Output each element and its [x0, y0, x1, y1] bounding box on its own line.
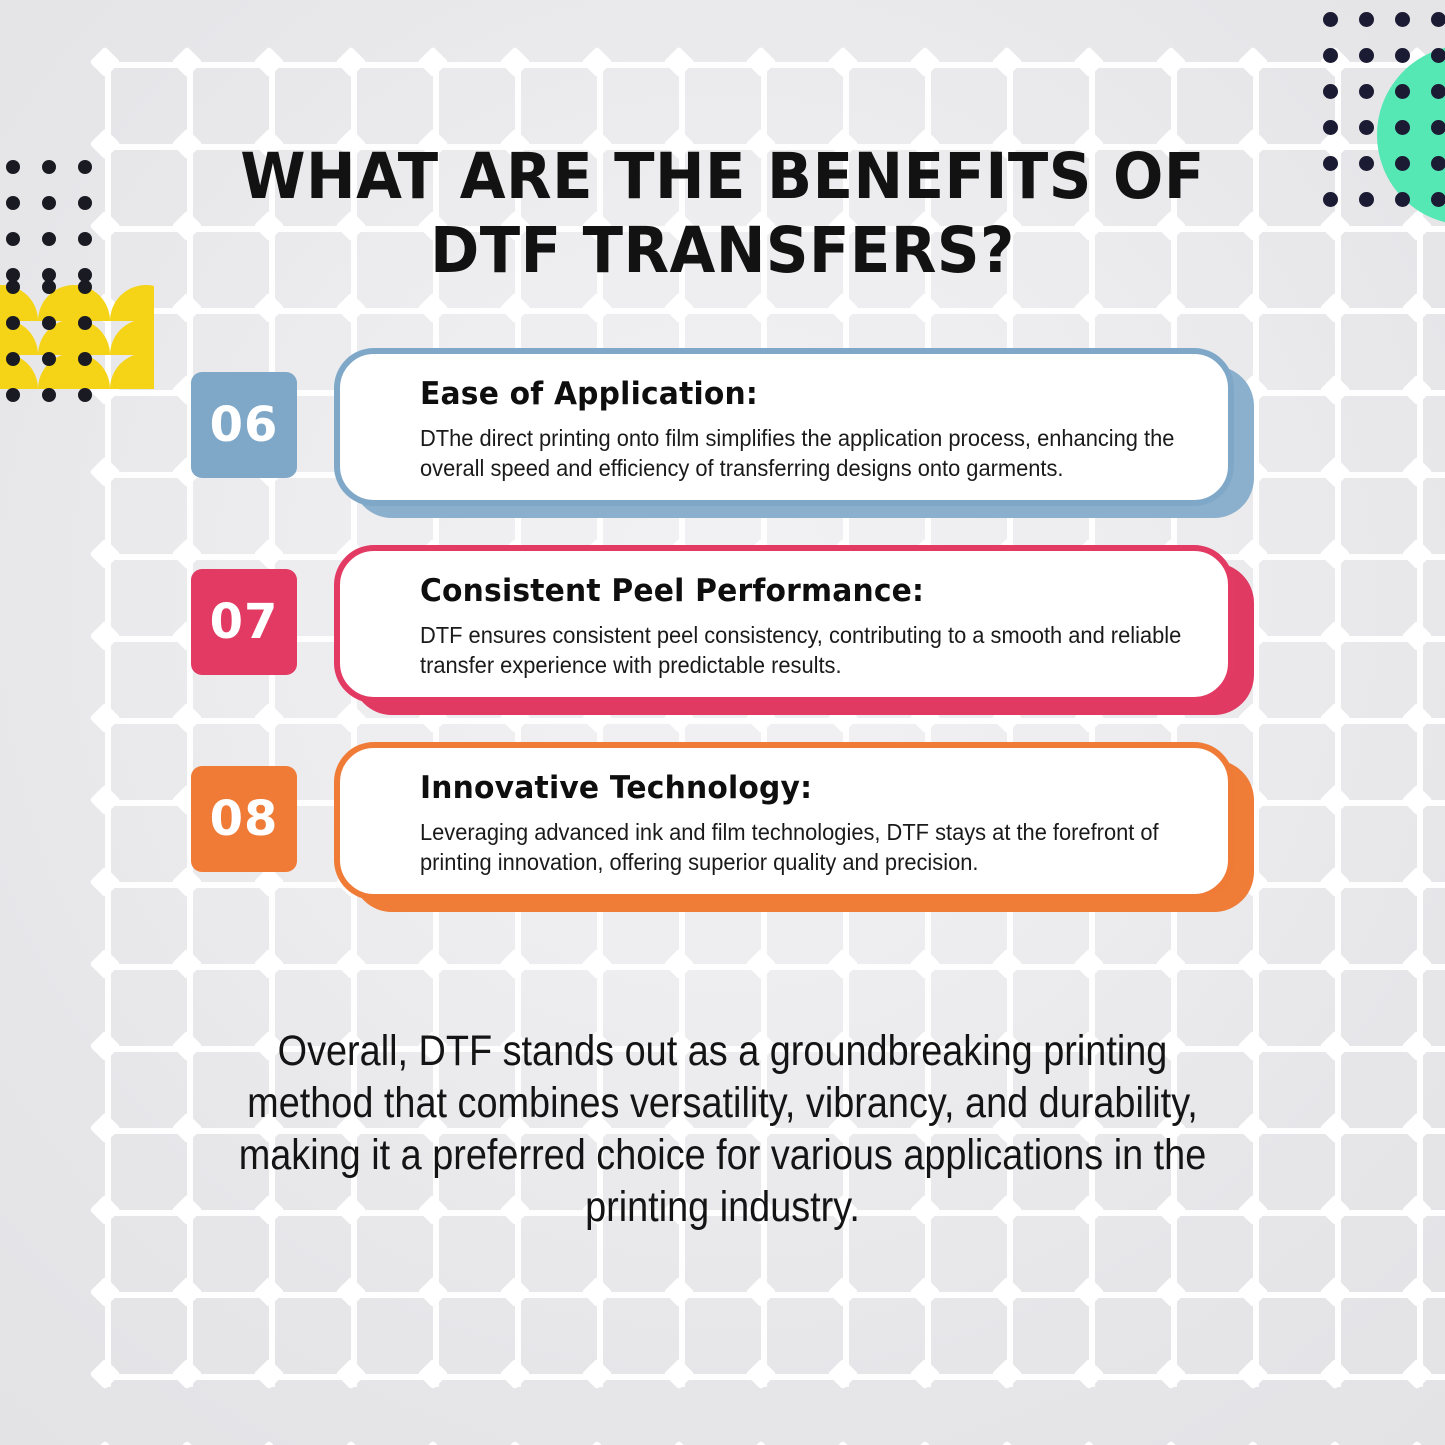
decorative-dot-icon	[1431, 12, 1445, 27]
grid-diamond-icon	[1319, 1112, 1350, 1143]
grid-diamond-icon	[1401, 1440, 1432, 1445]
grid-diamond-icon	[335, 1276, 366, 1307]
grid-diamond-icon	[171, 702, 202, 733]
grid-diamond-icon	[1401, 538, 1432, 569]
semicircle-icon	[0, 353, 38, 389]
grid-diamond-icon	[581, 1358, 612, 1389]
grid-diamond-icon	[89, 702, 120, 733]
grid-diamond-icon	[1237, 1276, 1268, 1307]
grid-diamond-icon	[909, 948, 940, 979]
grid-diamond-icon	[1237, 1194, 1268, 1225]
grid-diamond-icon	[253, 1358, 284, 1389]
grid-diamond-icon	[1401, 374, 1432, 405]
decorative-dot-icon	[1359, 48, 1374, 63]
grid-diamond-icon	[171, 948, 202, 979]
semicircle-icon	[0, 285, 38, 321]
grid-diamond-icon	[335, 948, 366, 979]
grid-diamond-icon	[417, 1276, 448, 1307]
grid-diamond-icon	[417, 948, 448, 979]
grid-diamond-icon	[89, 456, 120, 487]
grid-diamond-icon	[991, 1276, 1022, 1307]
grid-diamond-icon	[171, 1030, 202, 1061]
grid-diamond-icon	[745, 1358, 776, 1389]
decorative-dot-icon	[42, 268, 56, 282]
grid-diamond-icon	[663, 46, 694, 77]
grid-diamond-icon	[1319, 46, 1350, 77]
grid-diamond-icon	[745, 948, 776, 979]
grid-diamond-icon	[1155, 1358, 1186, 1389]
decorative-dot-icon	[1395, 12, 1410, 27]
grid-diamond-icon	[1319, 1440, 1350, 1445]
grid-diamond-icon	[827, 1358, 858, 1389]
grid-diamond-icon	[1319, 292, 1350, 323]
grid-diamond-icon	[1401, 1276, 1432, 1307]
decorative-dot-icon	[1323, 48, 1338, 63]
grid-diamond-icon	[171, 1194, 202, 1225]
grid-diamond-icon	[499, 948, 530, 979]
grid-diamond-icon	[1401, 948, 1432, 979]
semicircle-icon	[110, 285, 154, 321]
grid-diamond-icon	[253, 1276, 284, 1307]
grid-diamond-icon	[89, 538, 120, 569]
grid-diamond-icon	[745, 1440, 776, 1445]
grid-diamond-icon	[1237, 702, 1268, 733]
grid-diamond-icon	[663, 1276, 694, 1307]
grid-diamond-icon	[417, 46, 448, 77]
decorative-dot-icon	[1323, 84, 1338, 99]
decorative-dot-icon	[42, 388, 56, 402]
decorative-dot-icon	[78, 268, 92, 282]
benefit-body: Leveraging advanced ink and film technol…	[420, 817, 1234, 877]
grid-diamond-icon	[1155, 1276, 1186, 1307]
grid-diamond-icon	[1237, 128, 1268, 159]
grid-diamond-icon	[499, 1358, 530, 1389]
grid-diamond-icon	[909, 1358, 940, 1389]
grid-diamond-icon	[1237, 1440, 1268, 1445]
grid-diamond-icon	[89, 866, 120, 897]
decorative-dot-icon	[1359, 192, 1374, 207]
grid-diamond-icon	[1073, 948, 1104, 979]
grid-diamond-icon	[335, 702, 366, 733]
grid-diamond-icon	[663, 948, 694, 979]
grid-diamond-icon	[89, 620, 120, 651]
decorative-dot-icon	[1323, 192, 1338, 207]
decorative-dot-icon	[6, 232, 20, 246]
grid-diamond-icon	[253, 292, 284, 323]
grid-diamond-icon	[827, 1440, 858, 1445]
decorative-dot-icon	[1323, 156, 1338, 171]
grid-diamond-icon	[909, 1276, 940, 1307]
decorative-dot-icon	[42, 196, 56, 210]
grid-diamond-icon	[1319, 1276, 1350, 1307]
grid-diamond-icon	[253, 1440, 284, 1445]
grid-diamond-icon	[1401, 620, 1432, 651]
grid-diamond-icon	[991, 948, 1022, 979]
grid-diamond-icon	[1319, 702, 1350, 733]
grid-diamond-icon	[1319, 128, 1350, 159]
grid-diamond-icon	[1319, 374, 1350, 405]
grid-diamond-icon	[335, 1440, 366, 1445]
benefit-card[interactable]: Innovative Technology: Leveraging advanc…	[334, 742, 1234, 900]
teal-circle-icon	[1377, 45, 1445, 225]
grid-diamond-icon	[1319, 210, 1350, 241]
grid-diamond-icon	[827, 948, 858, 979]
grid-diamond-icon	[663, 1358, 694, 1389]
grid-diamond-icon	[89, 210, 120, 241]
infographic-canvas: WHAT ARE THE BENEFITS OF DTF TRANSFERS? …	[0, 0, 1445, 1445]
semicircle-icon	[38, 285, 110, 321]
grid-diamond-icon	[89, 948, 120, 979]
grid-diamond-icon	[1401, 1112, 1432, 1143]
grid-diamond-icon	[499, 46, 530, 77]
grid-diamond-icon	[171, 1276, 202, 1307]
grid-diamond-icon	[827, 292, 858, 323]
grid-diamond-icon	[499, 1440, 530, 1445]
benefit-heading: Innovative Technology:	[420, 770, 1198, 806]
benefit-heading: Consistent Peel Performance:	[420, 573, 1198, 609]
grid-diamond-icon	[1073, 46, 1104, 77]
grid-diamond-icon	[171, 1440, 202, 1445]
semicircle-cluster-icon	[0, 285, 154, 390]
grid-diamond-icon	[1319, 538, 1350, 569]
grid-diamond-icon	[909, 292, 940, 323]
decorative-dot-icon	[6, 388, 20, 402]
decorative-dot-icon	[78, 232, 92, 246]
grid-diamond-icon	[1237, 1030, 1268, 1061]
grid-diamond-icon	[253, 538, 284, 569]
grid-diamond-icon	[663, 292, 694, 323]
grid-diamond-icon	[253, 46, 284, 77]
grid-diamond-icon	[417, 1440, 448, 1445]
grid-diamond-icon	[417, 292, 448, 323]
grid-diamond-icon	[171, 1358, 202, 1389]
benefit-number-badge: 07	[191, 569, 297, 675]
grid-diamond-icon	[1401, 866, 1432, 897]
decorative-dot-icon	[1323, 120, 1338, 135]
benefit-number-badge: 06	[191, 372, 297, 478]
grid-diamond-icon	[1155, 948, 1186, 979]
decorative-dot-icon	[78, 160, 92, 174]
grid-diamond-icon	[1073, 1440, 1104, 1445]
grid-diamond-icon	[1401, 702, 1432, 733]
grid-diamond-icon	[745, 46, 776, 77]
grid-diamond-icon	[335, 292, 366, 323]
grid-diamond-icon	[1319, 866, 1350, 897]
grid-diamond-icon	[171, 292, 202, 323]
benefit-card[interactable]: Ease of Application: DThe direct printin…	[334, 348, 1234, 506]
benefit-card[interactable]: Consistent Peel Performance: DTF ensures…	[334, 545, 1234, 703]
grid-diamond-icon	[1401, 784, 1432, 815]
grid-diamond-icon	[991, 292, 1022, 323]
grid-diamond-icon	[253, 948, 284, 979]
grid-diamond-icon	[827, 1276, 858, 1307]
decorative-dot-icon	[1359, 12, 1374, 27]
grid-diamond-icon	[89, 1112, 120, 1143]
grid-diamond-icon	[1237, 46, 1268, 77]
grid-diamond-icon	[171, 210, 202, 241]
grid-diamond-icon	[1237, 1112, 1268, 1143]
semicircle-icon	[110, 353, 154, 389]
benefit-heading: Ease of Application:	[420, 376, 1198, 412]
benefit-number-badge: 08	[191, 766, 297, 872]
page-title: WHAT ARE THE BENEFITS OF DTF TRANSFERS?	[213, 140, 1233, 288]
decorative-dot-icon	[42, 160, 56, 174]
grid-diamond-icon	[171, 1112, 202, 1143]
grid-diamond-icon	[1237, 1358, 1268, 1389]
grid-diamond-icon	[581, 948, 612, 979]
grid-diamond-icon	[745, 292, 776, 323]
decorative-dot-icon	[6, 196, 20, 210]
grid-diamond-icon	[89, 1194, 120, 1225]
grid-diamond-icon	[89, 1276, 120, 1307]
grid-diamond-icon	[1319, 784, 1350, 815]
grid-diamond-icon	[89, 784, 120, 815]
grid-diamond-icon	[89, 1030, 120, 1061]
grid-diamond-icon	[499, 1276, 530, 1307]
decorative-dot-icon	[1395, 48, 1410, 63]
grid-diamond-icon	[1319, 456, 1350, 487]
grid-diamond-icon	[909, 1440, 940, 1445]
grid-diamond-icon	[581, 1276, 612, 1307]
grid-diamond-icon	[1319, 1358, 1350, 1389]
benefit-body: DThe direct printing onto film simplifie…	[420, 423, 1234, 483]
decorative-dot-icon	[78, 388, 92, 402]
semicircle-icon	[0, 319, 38, 355]
grid-diamond-icon	[1401, 292, 1432, 323]
grid-diamond-icon	[1155, 46, 1186, 77]
grid-diamond-icon	[827, 46, 858, 77]
grid-diamond-icon	[171, 46, 202, 77]
benefit-body: DTF ensures consistent peel consistency,…	[420, 620, 1234, 680]
grid-diamond-icon	[1319, 1030, 1350, 1061]
grid-diamond-icon	[581, 46, 612, 77]
semicircle-icon	[38, 319, 110, 355]
grid-diamond-icon	[909, 46, 940, 77]
grid-diamond-icon	[253, 702, 284, 733]
grid-diamond-icon	[171, 128, 202, 159]
grid-diamond-icon	[581, 292, 612, 323]
grid-diamond-icon	[1401, 1358, 1432, 1389]
grid-diamond-icon	[581, 1440, 612, 1445]
decorative-dot-icon	[1323, 12, 1338, 27]
grid-diamond-icon	[499, 292, 530, 323]
grid-diamond-icon	[1401, 1194, 1432, 1225]
decorative-dot-icon	[78, 196, 92, 210]
grid-diamond-icon	[1237, 538, 1268, 569]
grid-diamond-icon	[1237, 210, 1268, 241]
decorative-dot-icon	[6, 160, 20, 174]
decorative-dot-icon	[42, 232, 56, 246]
decorative-dot-icon	[1359, 120, 1374, 135]
grid-diamond-icon	[89, 1440, 120, 1445]
semicircle-icon	[110, 319, 154, 355]
grid-diamond-icon	[1237, 292, 1268, 323]
grid-diamond-icon	[1073, 1276, 1104, 1307]
grid-diamond-icon	[1155, 1440, 1186, 1445]
grid-diamond-icon	[335, 46, 366, 77]
grid-diamond-icon	[1319, 1194, 1350, 1225]
grid-diamond-icon	[663, 1440, 694, 1445]
grid-diamond-icon	[1401, 1030, 1432, 1061]
grid-diamond-icon	[1237, 948, 1268, 979]
grid-diamond-icon	[1319, 620, 1350, 651]
decorative-dot-icon	[1359, 84, 1374, 99]
grid-diamond-icon	[1401, 456, 1432, 487]
grid-diamond-icon	[1073, 1358, 1104, 1389]
decorative-dot-icon	[1359, 156, 1374, 171]
grid-diamond-icon	[991, 1358, 1022, 1389]
decorative-dot-icon	[6, 268, 20, 282]
grid-diamond-icon	[89, 46, 120, 77]
grid-diamond-icon	[335, 1358, 366, 1389]
grid-diamond-icon	[1073, 292, 1104, 323]
dot-grid-left-icon	[6, 160, 92, 282]
grid-diamond-icon	[89, 1358, 120, 1389]
grid-diamond-icon	[417, 1358, 448, 1389]
grid-diamond-icon	[1155, 292, 1186, 323]
grid-diamond-icon	[89, 128, 120, 159]
grid-diamond-icon	[745, 1276, 776, 1307]
grid-diamond-icon	[991, 1440, 1022, 1445]
closing-paragraph: Overall, DTF stands out as a groundbreak…	[219, 1025, 1227, 1233]
grid-diamond-icon	[991, 46, 1022, 77]
semicircle-icon	[38, 353, 110, 389]
grid-diamond-icon	[171, 538, 202, 569]
grid-diamond-icon	[1319, 948, 1350, 979]
